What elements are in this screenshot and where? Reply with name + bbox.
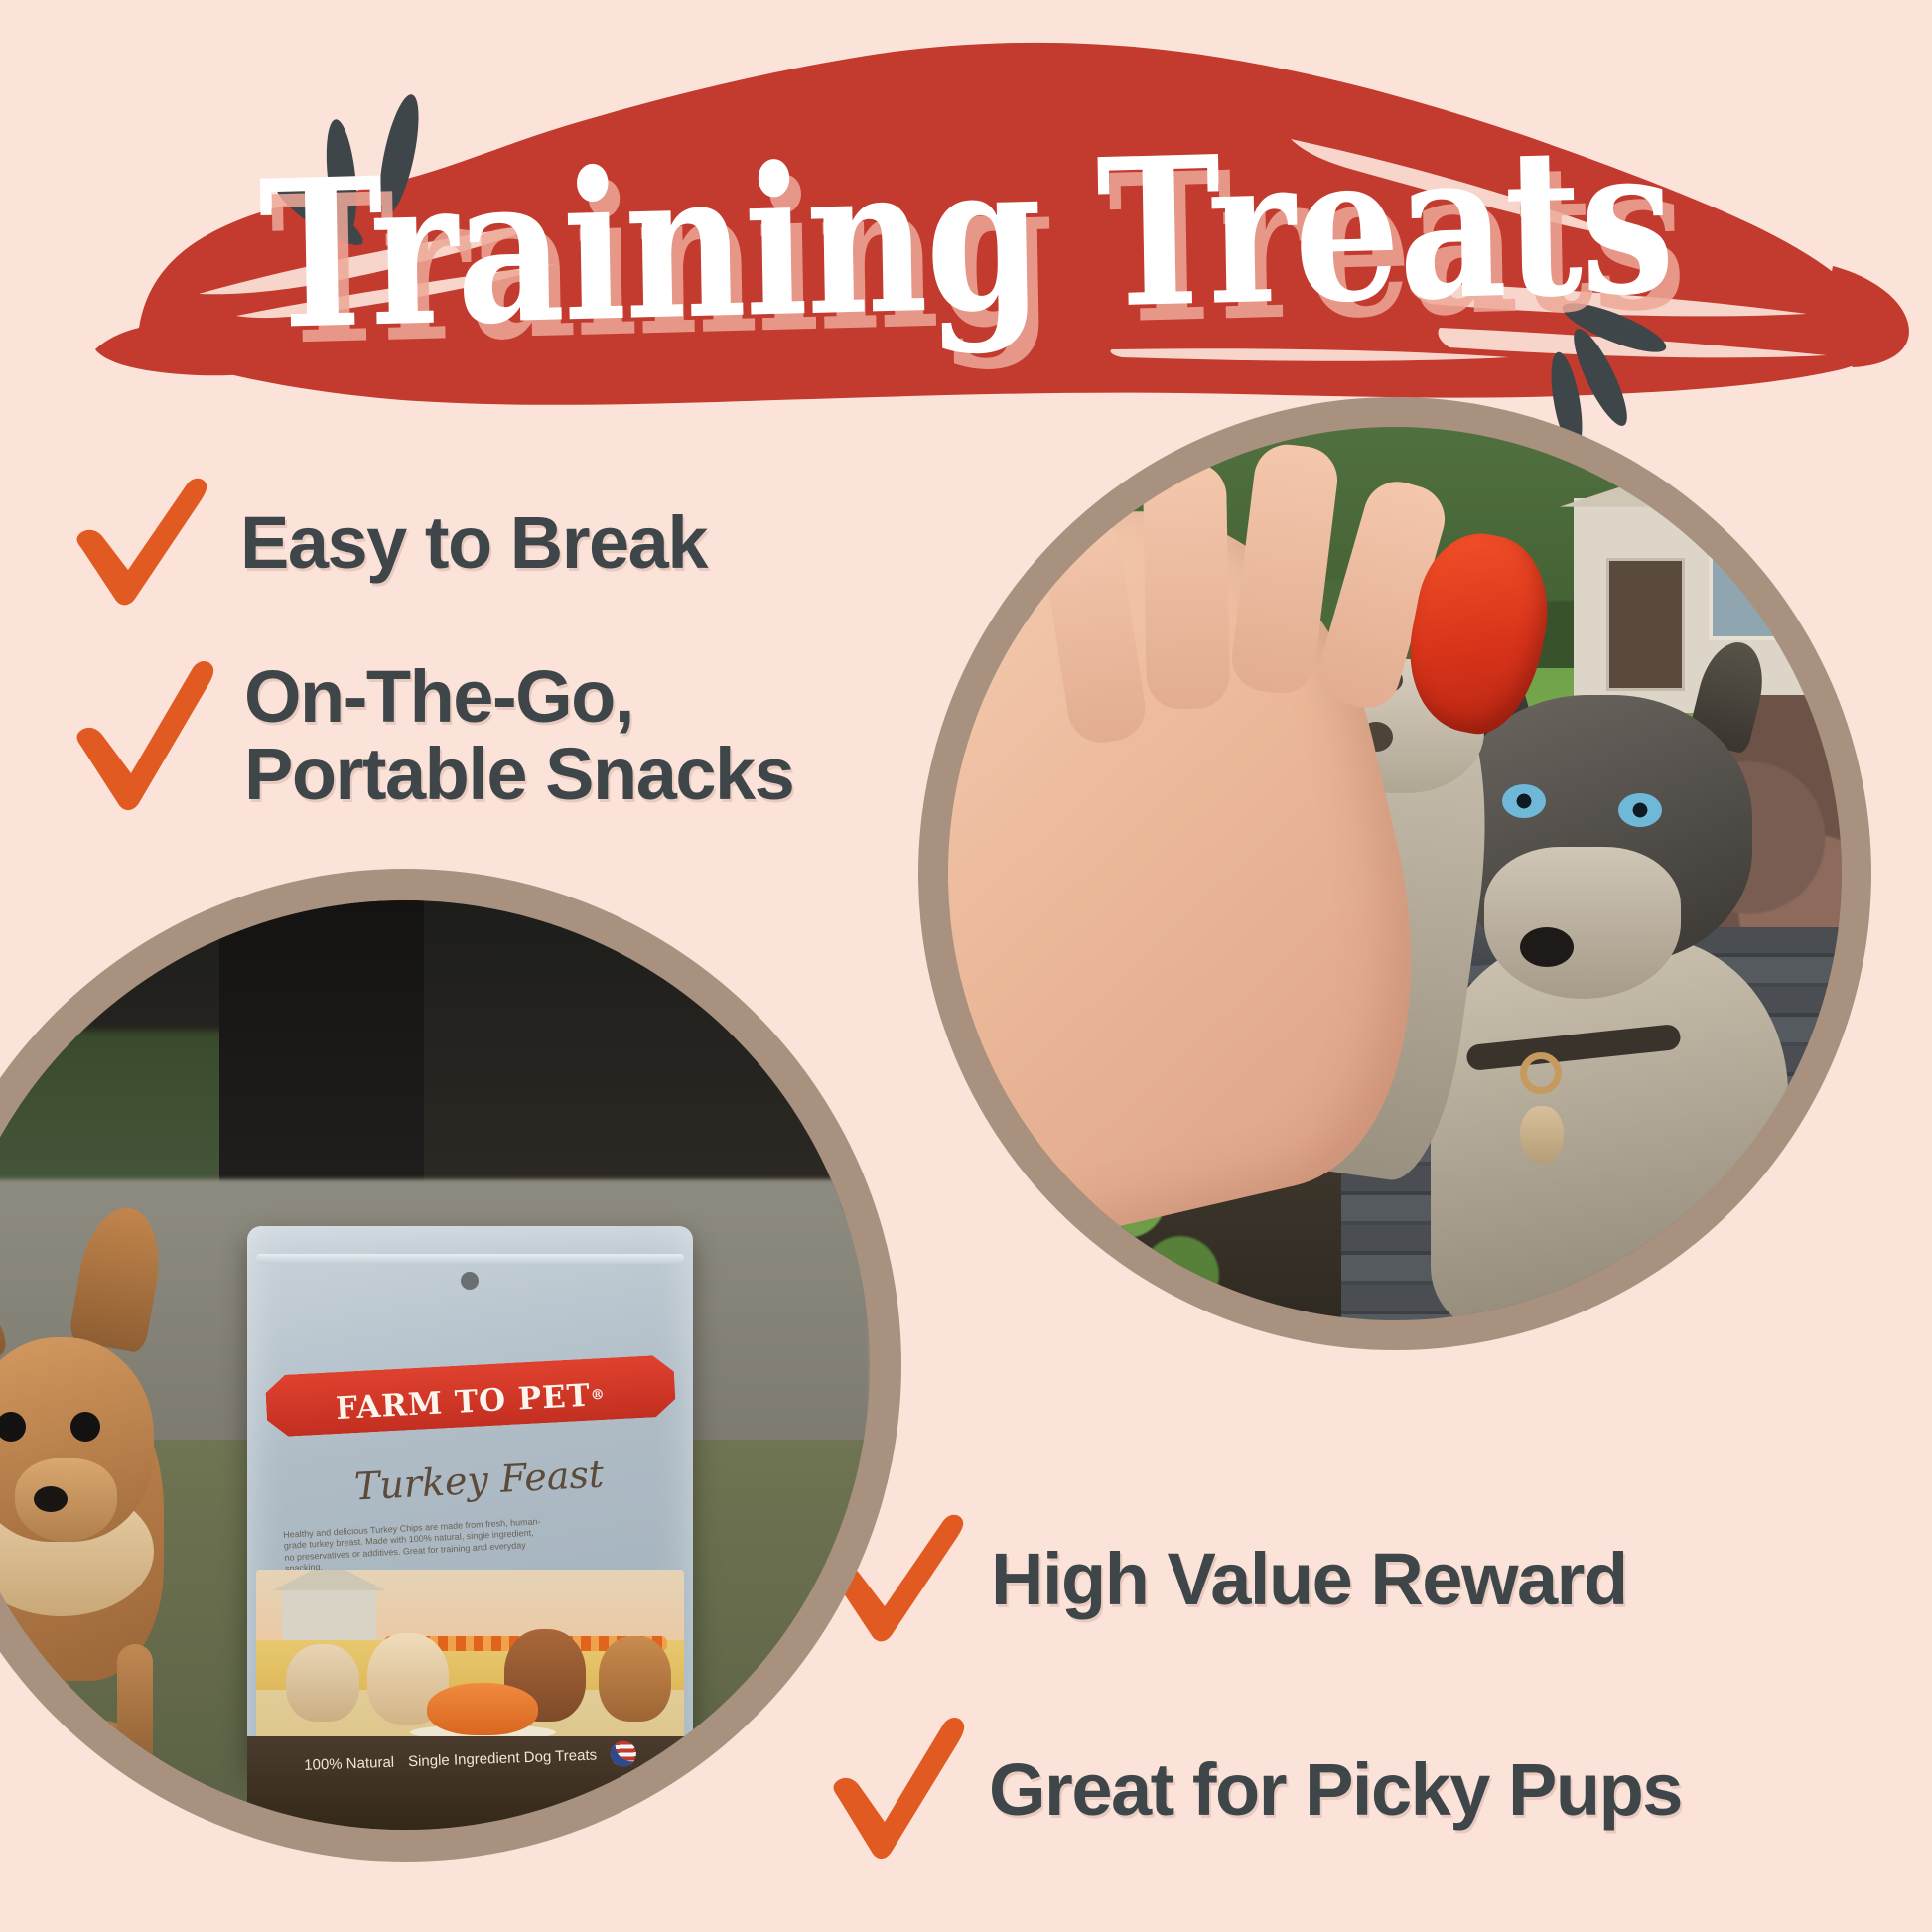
chihuahua-with-treat-bag-photo: FARM TO PET® Turkey Feast Healthy and de…	[0, 900, 870, 1830]
benefit-label: Great for Picky Pups	[989, 1751, 1682, 1829]
artwork-roast-turkey	[427, 1683, 538, 1735]
page-title: Training Treats	[173, 117, 1760, 361]
dog-eye-left	[1502, 784, 1546, 818]
hand-finger	[1143, 462, 1230, 709]
shed-door	[1606, 558, 1686, 691]
claim-natural: 100% Natural	[304, 1753, 394, 1773]
bag-zipper	[256, 1254, 684, 1264]
checkmark-icon	[69, 469, 218, 618]
made-in-usa-flag-icon	[610, 1740, 636, 1767]
husky-dog-receiving-treat-photo	[948, 427, 1842, 1320]
benefit-item-picky-pups: Great for Picky Pups	[826, 1711, 1682, 1869]
artwork-dog	[286, 1644, 358, 1722]
chihuahua-front-leg-left	[6, 1644, 42, 1773]
bag-artwork	[256, 1570, 684, 1746]
marketing-graphic-canvas: Training Treats Easy to Break On-The-Go,…	[0, 0, 1932, 1932]
benefit-item-easy-to-break: Easy to Break	[69, 469, 707, 618]
collar-ring	[1520, 1052, 1562, 1094]
chihuahua-eye-right	[70, 1412, 100, 1442]
benefit-label: Easy to Break	[240, 504, 707, 582]
title-banner: Training Treats	[0, 0, 1932, 477]
chihuahua-nose	[34, 1486, 68, 1512]
artwork-dog	[599, 1636, 671, 1721]
marigold-flower	[993, 1213, 1025, 1241]
claim-single-ingredient: Single Ingredient Dog Treats	[408, 1746, 598, 1770]
dog-id-tag	[1520, 1106, 1564, 1164]
background-shed	[1574, 498, 1806, 713]
dog-eye-right	[1618, 793, 1662, 827]
brand-name-text: FARM TO PET	[335, 1378, 592, 1427]
benefit-item-high-value-reward: High Value Reward	[826, 1505, 1627, 1654]
benefit-label: High Value Reward	[991, 1541, 1627, 1618]
shed-window	[1709, 554, 1783, 639]
chihuahua-front-leg-right	[117, 1644, 153, 1773]
dog-nose	[1520, 927, 1574, 967]
checkmark-icon	[69, 650, 226, 821]
trademark-symbol: ®	[590, 1387, 606, 1404]
dog-snout	[1484, 847, 1681, 999]
benefit-item-on-the-go: On-The-Go, Portable Snacks	[69, 650, 793, 821]
benefit-label: On-The-Go, Portable Snacks	[244, 658, 793, 812]
